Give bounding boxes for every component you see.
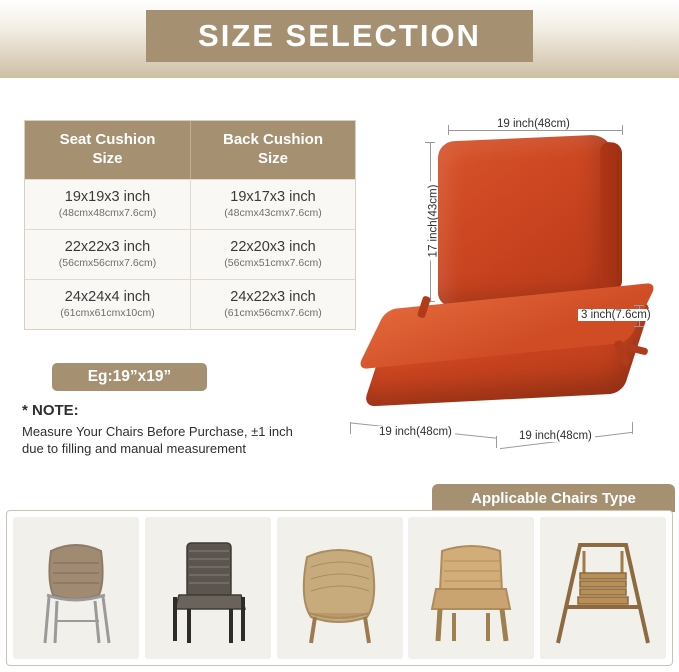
chair-thumbnail-rattan-stacking-chair bbox=[13, 517, 139, 659]
back-width-label: 19 inch(48cm) bbox=[494, 118, 573, 130]
dark-wicker-armchair-icon bbox=[145, 517, 271, 659]
table-header-seat-line1: Seat Cushion bbox=[60, 131, 156, 148]
example-size-pill: Eg:19”x19” bbox=[52, 363, 207, 391]
back-size-inches: 22x20x3 inch bbox=[195, 239, 351, 255]
chair-thumbnail-natural-wicker-armchair bbox=[408, 517, 534, 659]
table-cell-back-size: 19x17x3 inch (48cmx43cmx7.6cm) bbox=[190, 180, 355, 229]
seat-size-cm: (48cmx48cmx7.6cm) bbox=[29, 207, 186, 219]
applicable-chairs-label: Applicable Chairs Type bbox=[471, 490, 636, 507]
table-row: 22x22x3 inch (56cmx56cmx7.6cm) 22x20x3 i… bbox=[25, 229, 355, 279]
thickness-tick-bottom bbox=[634, 326, 644, 327]
seat-depth-tick-right bbox=[632, 422, 633, 434]
size-table: Seat Cushion Size Back Cushion Size 19x1… bbox=[24, 120, 356, 330]
table-row: 19x19x3 inch (48cmx48cmx7.6cm) 19x17x3 i… bbox=[25, 179, 355, 229]
table-cell-seat-size: 22x22x3 inch (56cmx56cmx7.6cm) bbox=[25, 230, 190, 279]
wooden-porch-swing-icon bbox=[540, 517, 666, 659]
seat-size-inches: 24x24x4 inch bbox=[29, 289, 186, 305]
table-cell-back-size: 24x22x3 inch (61cmx56cmx7.6cm) bbox=[190, 280, 355, 329]
thickness-tick-top bbox=[634, 305, 644, 306]
header-title-band: SIZE SELECTION bbox=[146, 10, 533, 62]
product-illustration: 19 inch(48cm) 17 inch(43cm) 3 inch(7.6cm… bbox=[360, 100, 670, 480]
seat-size-inches: 22x22x3 inch bbox=[29, 239, 186, 255]
note-title: * NOTE: bbox=[22, 402, 312, 419]
table-cell-back-size: 22x20x3 inch (56cmx51cmx7.6cm) bbox=[190, 230, 355, 279]
back-size-cm: (56cmx51cmx7.6cm) bbox=[195, 257, 351, 269]
note-block: * NOTE: Measure Your Chairs Before Purch… bbox=[22, 402, 312, 457]
table-row: 24x24x4 inch (61cmx61cmx10cm) 24x22x3 in… bbox=[25, 279, 355, 329]
back-width-tick-left bbox=[448, 125, 449, 135]
table-cell-seat-size: 19x19x3 inch (48cmx48cmx7.6cm) bbox=[25, 180, 190, 229]
seat-width-tick-right bbox=[496, 436, 497, 448]
applicable-chairs-gallery bbox=[6, 510, 673, 666]
applicable-chairs-band: Applicable Chairs Type bbox=[432, 484, 675, 512]
chair-thumbnail-dark-wicker-armchair bbox=[145, 517, 271, 659]
table-header-back-line1: Back Cushion bbox=[223, 131, 323, 148]
back-height-tick-top bbox=[425, 142, 435, 143]
table-header-back-line2: Size bbox=[258, 150, 288, 167]
seat-depth-label: 19 inch(48cm) bbox=[516, 430, 595, 442]
back-size-inches: 19x17x3 inch bbox=[195, 189, 351, 205]
rattan-stacking-chair-icon bbox=[13, 517, 139, 659]
table-header-row: Seat Cushion Size Back Cushion Size bbox=[25, 121, 355, 179]
back-size-cm: (48cmx43cmx7.6cm) bbox=[195, 207, 351, 219]
wicker-barrel-chair-icon bbox=[277, 517, 403, 659]
thickness-label: 3 inch(7.6cm) bbox=[578, 309, 654, 321]
back-width-tick-right bbox=[622, 125, 623, 135]
back-size-inches: 24x22x3 inch bbox=[195, 289, 351, 305]
table-cell-seat-size: 24x24x4 inch (61cmx61cmx10cm) bbox=[25, 280, 190, 329]
table-header-back-cushion: Back Cushion Size bbox=[190, 121, 355, 179]
back-size-cm: (61cmx56cmx7.6cm) bbox=[195, 307, 351, 319]
chair-thumbnail-wooden-porch-swing bbox=[540, 517, 666, 659]
page-header: SIZE SELECTION bbox=[0, 0, 679, 78]
seat-size-cm: (56cmx56cmx7.6cm) bbox=[29, 257, 186, 269]
table-header-seat-line2: Size bbox=[92, 150, 122, 167]
back-width-dimension-line bbox=[448, 130, 623, 131]
chair-thumbnail-wicker-barrel-chair bbox=[277, 517, 403, 659]
back-cushion-graphic bbox=[438, 134, 613, 307]
table-header-seat-cushion: Seat Cushion Size bbox=[25, 121, 190, 179]
page-title: SIZE SELECTION bbox=[198, 18, 481, 54]
note-body: Measure Your Chairs Before Purchase, ±1 … bbox=[22, 423, 312, 457]
example-size-label: Eg:19”x19” bbox=[88, 368, 172, 386]
seat-width-tick-left bbox=[350, 422, 351, 434]
seat-size-cm: (61cmx61cmx10cm) bbox=[29, 307, 186, 319]
seat-size-inches: 19x19x3 inch bbox=[29, 189, 186, 205]
seat-width-label: 19 inch(48cm) bbox=[376, 426, 455, 438]
natural-wicker-armchair-icon bbox=[408, 517, 534, 659]
